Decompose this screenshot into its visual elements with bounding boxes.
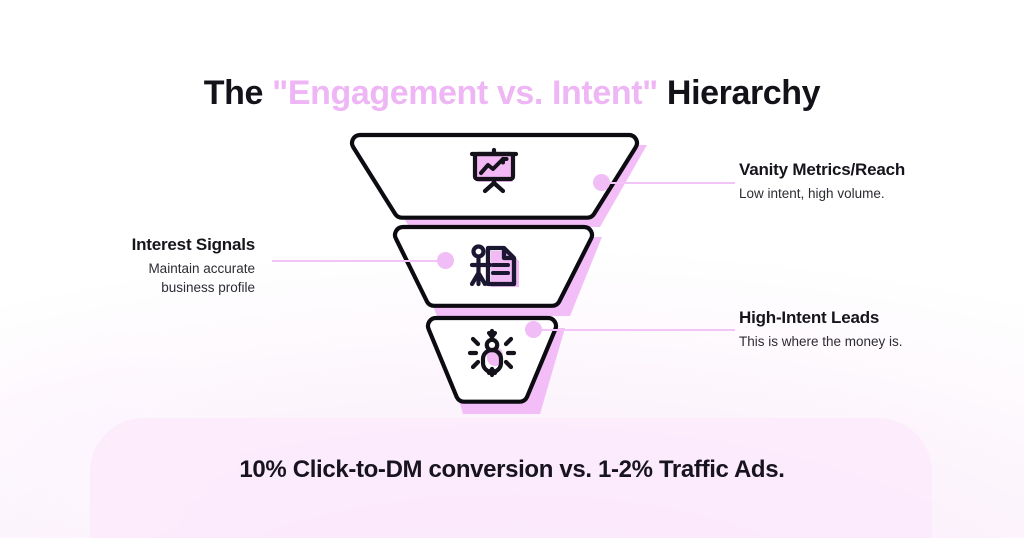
label-subtitle: Low intent, high volume.: [739, 185, 989, 204]
connector-dot-vanity: [593, 174, 610, 191]
label-title: Interest Signals: [20, 235, 255, 255]
connector-dot-leads: [525, 321, 542, 338]
label-interest-signals: Interest Signals Maintain accurate busin…: [20, 235, 255, 298]
label-title: High-Intent Leads: [739, 308, 989, 328]
connector-dot-interest: [437, 252, 454, 269]
label-subtitle: This is where the money is.: [739, 333, 989, 352]
connector-line-leads: [541, 329, 735, 331]
label-title: Vanity Metrics/Reach: [739, 160, 989, 180]
funnel-segment-interest-signals[interactable]: [395, 227, 592, 306]
label-subtitle-line1: Maintain accurate: [20, 260, 255, 279]
label-subtitle-line2: business profile: [20, 279, 255, 298]
connector-line-interest: [272, 260, 445, 262]
label-vanity-metrics: Vanity Metrics/Reach Low intent, high vo…: [739, 160, 989, 204]
label-high-intent-leads: High-Intent Leads This is where the mone…: [739, 308, 989, 352]
slide-canvas: The "Engagement vs. Intent" Hierarchy: [0, 0, 1024, 538]
label-subtitle: Maintain accurate business profile: [20, 260, 255, 297]
connector-line-vanity: [607, 182, 735, 184]
footer-statement: 10% Click-to-DM conversion vs. 1-2% Traf…: [0, 456, 1024, 484]
